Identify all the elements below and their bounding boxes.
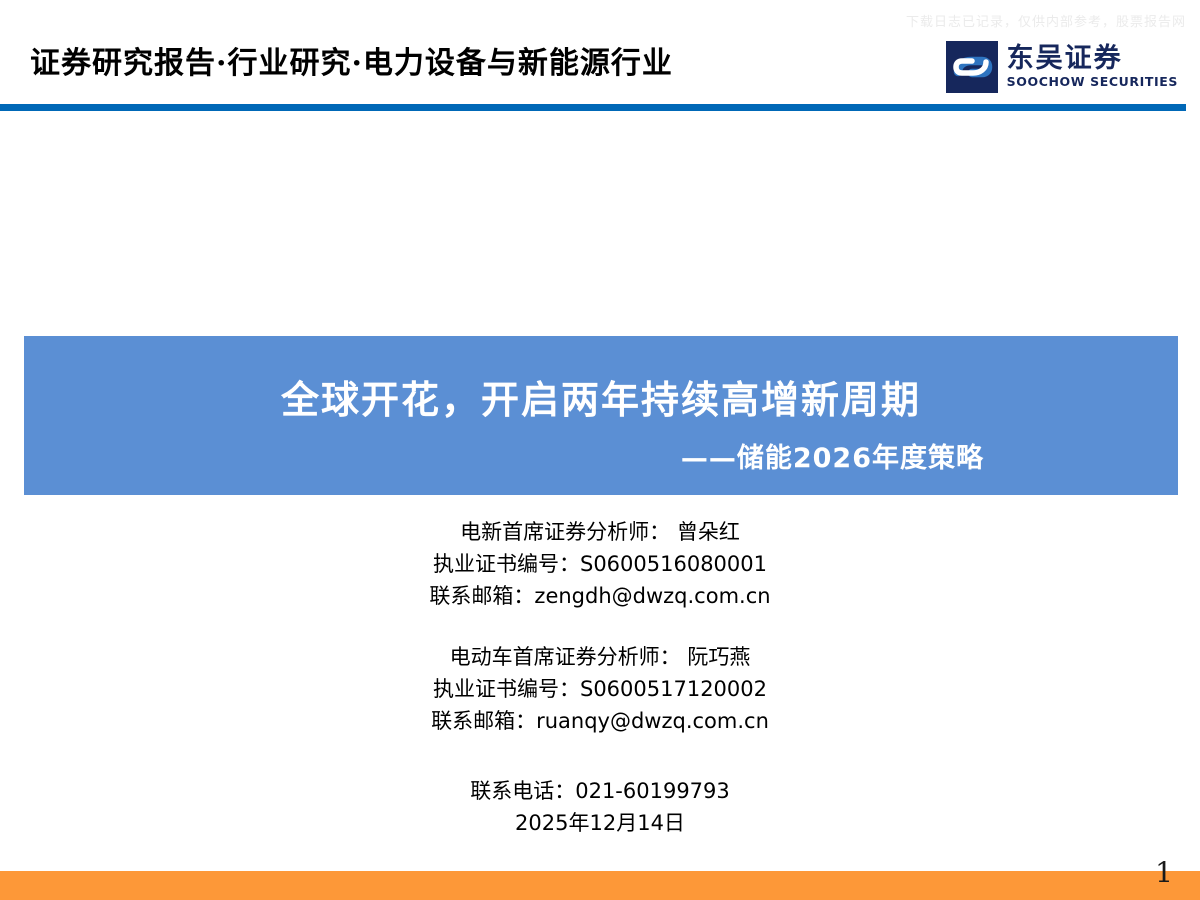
analyst-role-1: 电动车首席证券分析师： 阮巧燕 — [0, 641, 1200, 673]
slide-root: 下载日志已记录，仅供内部参考，股票报告网 证券研究报告·行业研究·电力设备与新能… — [0, 0, 1200, 900]
main-title: 全球开花，开启两年持续高增新周期 — [24, 369, 1178, 424]
soochow-logo-mark-icon — [946, 41, 998, 93]
analyst-entry-1: 电动车首席证券分析师： 阮巧燕 执业证书编号：S0600517120002 联系… — [0, 641, 1200, 737]
brand-logo-text: 东吴证券 SOOCHOW SECURITIES — [1007, 45, 1178, 89]
analyst-license-0: 执业证书编号：S0600516080001 — [0, 548, 1200, 580]
analyst-entry-0: 电新首席证券分析师： 曾朵红 执业证书编号：S0600516080001 联系邮… — [0, 516, 1200, 612]
report-header-title: 证券研究报告·行业研究·电力设备与新能源行业 — [30, 38, 673, 82]
page-number: 1 — [1155, 859, 1173, 887]
analyst-license-1: 执业证书编号：S0600517120002 — [0, 673, 1200, 705]
subtitle: ——储能2026年度策略 — [24, 436, 1178, 475]
report-date: 2025年12月14日 — [0, 807, 1200, 839]
brand-name-en: SOOCHOW SECURITIES — [1007, 76, 1178, 89]
contact-phone: 联系电话：021-60199793 — [0, 775, 1200, 807]
footer-accent-bar — [0, 871, 1200, 900]
slide-header: 证券研究报告·行业研究·电力设备与新能源行业 东吴证券 SOOCHOW SECU… — [0, 38, 1200, 100]
analyst-email-0: 联系邮箱：zengdh@dwzq.com.cn — [0, 580, 1200, 612]
analyst-group-spacer — [0, 612, 1200, 641]
contact-spacer — [0, 737, 1200, 775]
contact-block: 联系电话：021-60199793 2025年12月14日 — [0, 775, 1200, 839]
title-banner: 全球开花，开启两年持续高增新周期 ——储能2026年度策略 — [24, 336, 1178, 495]
watermark-text: 下载日志已记录，仅供内部参考，股票报告网 — [906, 11, 1186, 30]
header-divider-rule — [0, 104, 1186, 111]
analyst-email-1: 联系邮箱：ruanqy@dwzq.com.cn — [0, 705, 1200, 737]
brand-logo: 东吴证券 SOOCHOW SECURITIES — [946, 38, 1178, 96]
brand-name-cn: 东吴证券 — [1007, 45, 1178, 72]
analyst-role-0: 电新首席证券分析师： 曾朵红 — [0, 516, 1200, 548]
analyst-info-block: 电新首席证券分析师： 曾朵红 执业证书编号：S0600516080001 联系邮… — [0, 516, 1200, 839]
